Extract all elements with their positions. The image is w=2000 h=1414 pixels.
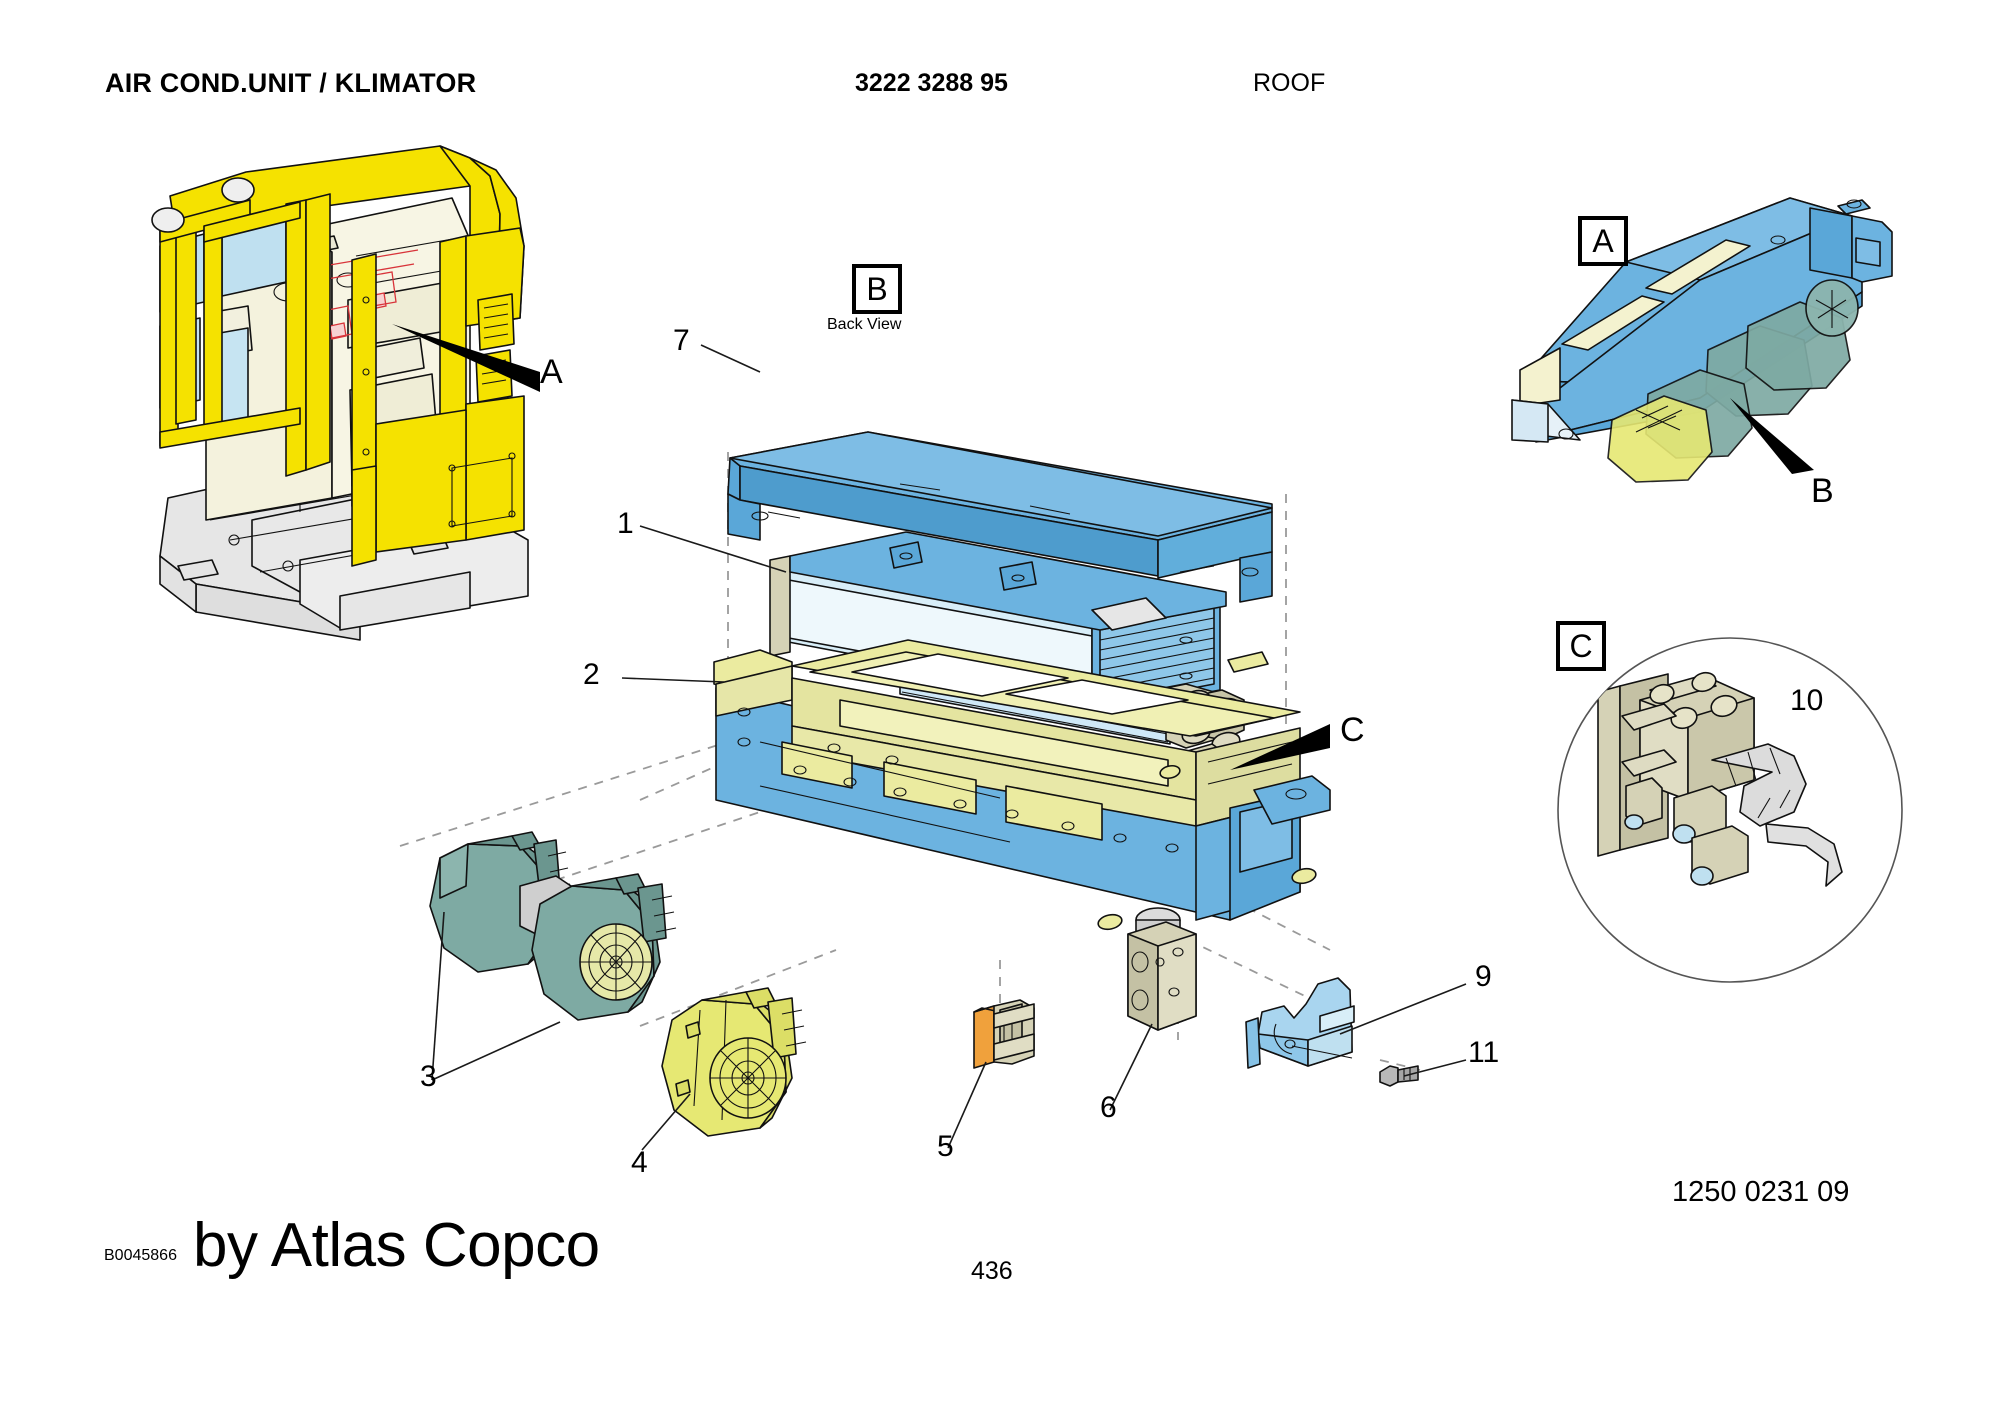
back-view-badge: B	[852, 264, 902, 314]
part-9-bracket	[1246, 978, 1354, 1068]
item-label-1: 1	[617, 509, 634, 539]
part-5-connector	[974, 1000, 1034, 1068]
cab-illustration	[152, 146, 540, 640]
footer-doc-number: 1250 0231 09	[1672, 1176, 1849, 1209]
part-4-blower	[662, 988, 806, 1136]
item-label-9: 9	[1475, 962, 1492, 992]
item-label-7: 7	[673, 326, 690, 356]
detail-c-badge: C	[1556, 621, 1606, 671]
part-11-screw	[1380, 1066, 1418, 1086]
back-view-caption: Back View	[827, 316, 901, 334]
part-3-twin-blower	[430, 832, 676, 1020]
item-label-4: 4	[631, 1148, 648, 1178]
detail-view-c-illustration	[1558, 638, 1902, 982]
part-2-chassis-frame	[714, 640, 1330, 931]
footer-page-number: 436	[971, 1257, 1013, 1286]
item-label-3: 3	[420, 1062, 437, 1092]
detail-c-item-label-10: 10	[1790, 686, 1823, 716]
part-6-expansion-valve	[1128, 908, 1196, 1030]
main-label-c: C	[1340, 713, 1365, 747]
cab-label-a: A	[540, 355, 563, 389]
detail-view-a-illustration	[1512, 198, 1892, 482]
footer-figure-code: B0045866	[104, 1247, 177, 1265]
item-label-5: 5	[937, 1132, 954, 1162]
parts-catalog-page: AIR COND.UNIT / KLIMATOR 3222 3288 95 RO…	[0, 0, 2000, 1414]
detail-a-badge: A	[1578, 216, 1628, 266]
item-label-11: 11	[1468, 1038, 1499, 1068]
item-label-6: 6	[1100, 1093, 1117, 1123]
item-label-2: 2	[583, 660, 600, 690]
footer-brand: by Atlas Copco	[193, 1210, 600, 1281]
detail-a-label-b: B	[1811, 474, 1834, 508]
